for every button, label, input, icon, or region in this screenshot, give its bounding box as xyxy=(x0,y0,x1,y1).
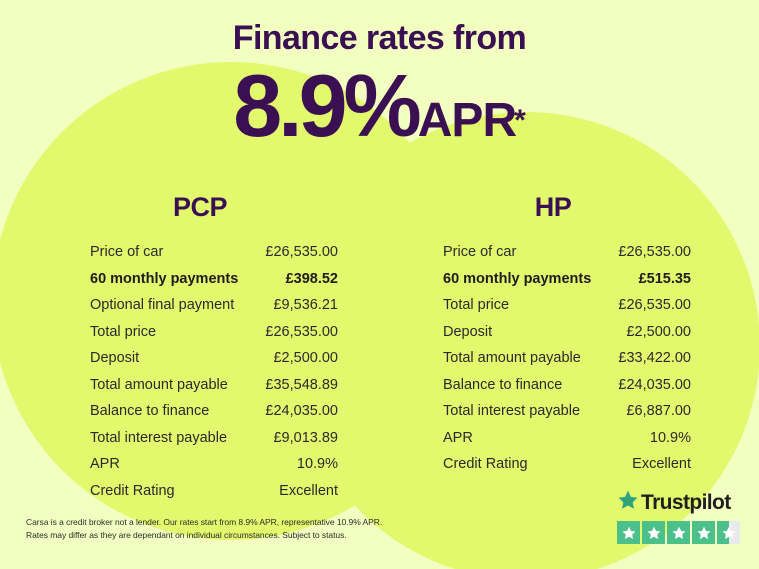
row-label: Total interest payable xyxy=(90,431,227,446)
disclaimer-line-2: Rates may differ as they are dependant o… xyxy=(26,529,456,542)
panel-hp: HP Price of car£26,535.0060 monthly paym… xyxy=(405,192,701,478)
headline-rate: 8.9%APR* xyxy=(0,62,759,150)
row-value: £2,500.00 xyxy=(273,351,338,366)
row-label: APR xyxy=(90,457,120,472)
row-label: Deposit xyxy=(90,351,139,366)
table-row: Optional final payment£9,536.21 xyxy=(90,292,338,319)
table-row: Deposit£2,500.00 xyxy=(443,319,691,346)
row-value: Excellent xyxy=(632,457,691,472)
trustpilot-star xyxy=(717,521,740,544)
panel-pcp-rows: Price of car£26,535.0060 monthly payment… xyxy=(52,239,348,504)
row-label: Total price xyxy=(90,325,156,340)
row-value: £24,035.00 xyxy=(618,378,691,393)
row-value: Excellent xyxy=(279,484,338,499)
panel-hp-title: HP xyxy=(405,192,701,223)
row-value: 10.9% xyxy=(650,431,691,446)
row-label: Credit Rating xyxy=(90,484,175,499)
row-value: £26,535.00 xyxy=(265,245,338,260)
row-value: £24,035.00 xyxy=(265,404,338,419)
headline-title: Finance rates from xyxy=(0,20,759,57)
table-row: Price of car£26,535.00 xyxy=(90,239,338,266)
row-label: Total amount payable xyxy=(90,378,228,393)
row-value: 10.9% xyxy=(297,457,338,472)
row-value: £26,535.00 xyxy=(618,298,691,313)
trustpilot-badge[interactable]: Trustpilot xyxy=(617,489,743,544)
table-row: 60 monthly payments£398.52 xyxy=(90,266,338,293)
trustpilot-rating-stars xyxy=(617,521,743,544)
panel-pcp-title: PCP xyxy=(52,192,348,223)
row-value: £398.52 xyxy=(286,272,338,287)
table-row: Total price£26,535.00 xyxy=(443,292,691,319)
row-label: Total interest payable xyxy=(443,404,580,419)
table-row: Credit RatingExcellent xyxy=(90,478,338,505)
row-value: £2,500.00 xyxy=(626,325,691,340)
table-row: Total amount payable£33,422.00 xyxy=(443,345,691,372)
row-label: Credit Rating xyxy=(443,457,528,472)
row-label: Balance to finance xyxy=(90,404,209,419)
table-row: Credit RatingExcellent xyxy=(443,451,691,478)
disclaimer-line-1: Carsa is a credit broker not a lender. O… xyxy=(26,516,456,529)
row-label: Optional final payment xyxy=(90,298,234,313)
row-value: £33,422.00 xyxy=(618,351,691,366)
row-label: Deposit xyxy=(443,325,492,340)
row-value: £26,535.00 xyxy=(265,325,338,340)
promo-graphic: Finance rates from 8.9%APR* PCP Price of… xyxy=(0,0,759,569)
table-row: 60 monthly payments£515.35 xyxy=(443,266,691,293)
table-row: Total amount payable£35,548.89 xyxy=(90,372,338,399)
row-label: Balance to finance xyxy=(443,378,562,393)
trustpilot-wordmark: Trustpilot xyxy=(617,489,743,516)
table-row: Total price£26,535.00 xyxy=(90,319,338,346)
table-row: Total interest payable£9,013.89 xyxy=(90,425,338,452)
row-value: £35,548.89 xyxy=(265,378,338,393)
table-row: Balance to finance£24,035.00 xyxy=(443,372,691,399)
rate-value: 8.9% xyxy=(233,56,418,155)
trustpilot-name: Trustpilot xyxy=(641,492,731,513)
table-row: Balance to finance£24,035.00 xyxy=(90,398,338,425)
row-label: Price of car xyxy=(90,245,163,260)
table-row: Deposit£2,500.00 xyxy=(90,345,338,372)
row-value: £6,887.00 xyxy=(626,404,691,419)
row-value: £9,536.21 xyxy=(273,298,338,313)
trustpilot-star xyxy=(667,521,690,544)
trustpilot-star xyxy=(617,521,640,544)
row-value: £9,013.89 xyxy=(273,431,338,446)
trustpilot-star xyxy=(642,521,665,544)
panel-pcp: PCP Price of car£26,535.0060 monthly pay… xyxy=(52,192,348,504)
rate-asterisk: * xyxy=(514,104,526,137)
content-layer: Finance rates from 8.9%APR* PCP Price of… xyxy=(0,0,759,569)
row-label: Price of car xyxy=(443,245,516,260)
rate-unit: APR xyxy=(418,94,516,147)
row-label: Total amount payable xyxy=(443,351,581,366)
row-label: 60 monthly payments xyxy=(90,272,238,287)
table-row: Price of car£26,535.00 xyxy=(443,239,691,266)
row-value: £515.35 xyxy=(639,272,691,287)
row-label: Total price xyxy=(443,298,509,313)
row-label: APR xyxy=(443,431,473,446)
row-label: 60 monthly payments xyxy=(443,272,591,287)
table-row: Total interest payable£6,887.00 xyxy=(443,398,691,425)
trustpilot-star xyxy=(692,521,715,544)
table-row: APR10.9% xyxy=(443,425,691,452)
disclaimer: Carsa is a credit broker not a lender. O… xyxy=(26,516,456,542)
row-value: £26,535.00 xyxy=(618,245,691,260)
trustpilot-star-icon xyxy=(617,489,639,516)
panel-hp-rows: Price of car£26,535.0060 monthly payment… xyxy=(405,239,701,478)
table-row: APR10.9% xyxy=(90,451,338,478)
